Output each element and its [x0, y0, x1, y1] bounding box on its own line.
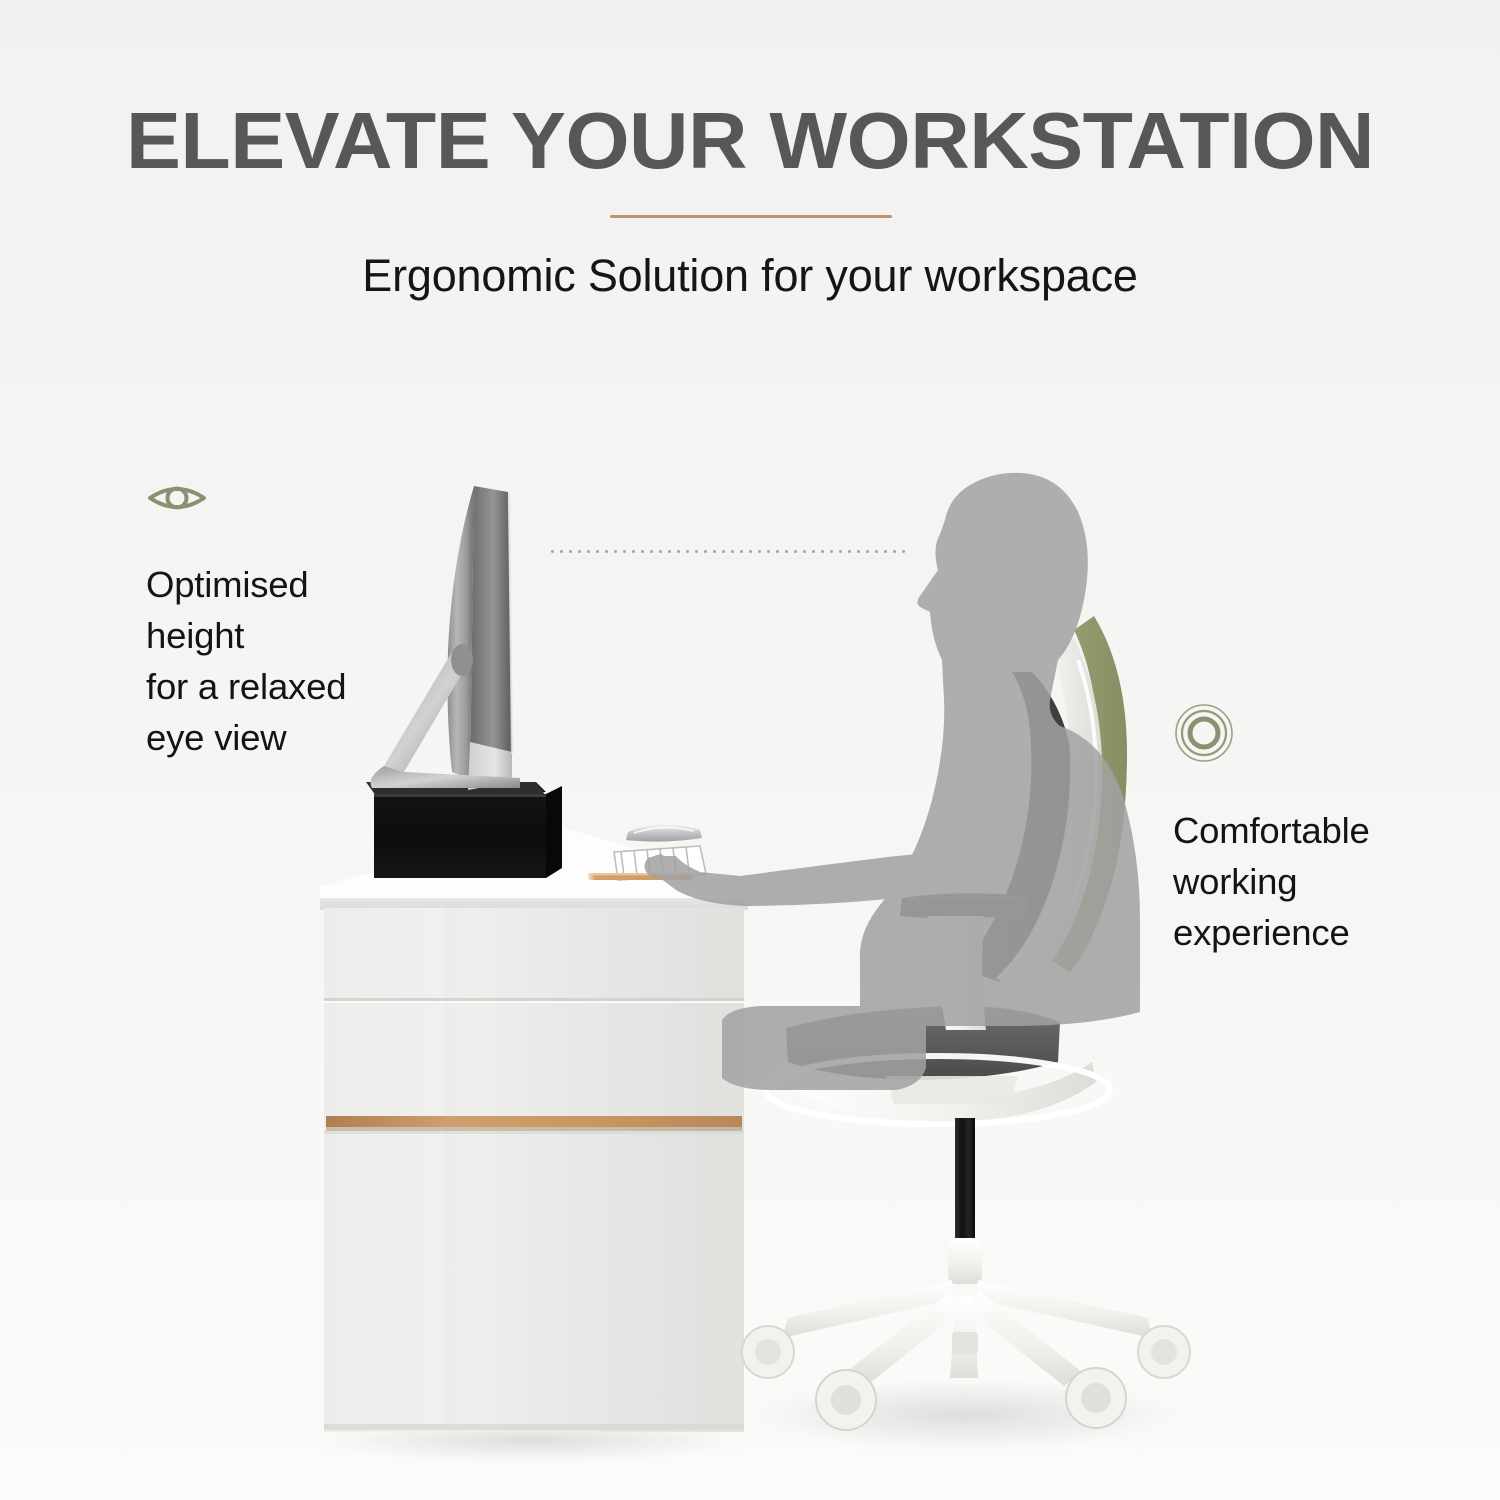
silhouette-thigh	[722, 1006, 926, 1090]
monitor-panel	[470, 486, 512, 780]
oak-accent-strip	[326, 1116, 742, 1127]
infographic-canvas: ELEVATE YOUR WORKSTATION Ergonomic Solut…	[0, 0, 1500, 1500]
drawer-seam-1	[324, 998, 744, 1002]
base-center-cap	[952, 1332, 978, 1354]
page-subtitle: Ergonomic Solution for your workspace	[0, 249, 1500, 303]
title-divider	[610, 215, 892, 218]
chair-gas-cylinder	[955, 1118, 975, 1254]
chair-floor-shadow	[705, 1373, 1225, 1457]
eye-icon	[146, 478, 346, 523]
drawer-seam-1-highlight	[324, 1001, 744, 1003]
dotted-eye-level-line	[548, 549, 906, 554]
monitor-back-shell	[448, 486, 475, 780]
page-title: ELEVATE YOUR WORKSTATION	[0, 101, 1500, 181]
monitor-stand-hinge	[451, 644, 473, 676]
monitor-riser-front	[374, 794, 546, 878]
callout-comfortable-working: Comfortable working experience	[1173, 702, 1370, 958]
drawer-seam-2	[324, 1131, 744, 1134]
monitor-riser	[366, 782, 562, 878]
header: ELEVATE YOUR WORKSTATION Ergonomic Solut…	[0, 0, 1500, 340]
cabinet-left-light	[324, 908, 444, 1432]
cabinet-right-shade	[700, 908, 744, 1432]
chair-cylinder-collar	[948, 1238, 982, 1284]
target-rings-icon	[1173, 702, 1370, 769]
monitor-riser-highlight	[374, 794, 546, 797]
desk-and-cabinet	[320, 826, 748, 1432]
callout-optimised-height: Optimised height for a relaxed eye view	[146, 478, 346, 763]
callout-optimised-height-text: Optimised height for a relaxed eye view	[146, 559, 346, 763]
cabinet-bottom-edge	[324, 1424, 744, 1430]
callout-comfortable-working-text: Comfortable working experience	[1173, 805, 1370, 958]
monitor	[371, 486, 521, 790]
monitor-riser-side	[546, 786, 562, 878]
oak-accent-strip-shadow	[326, 1127, 742, 1131]
